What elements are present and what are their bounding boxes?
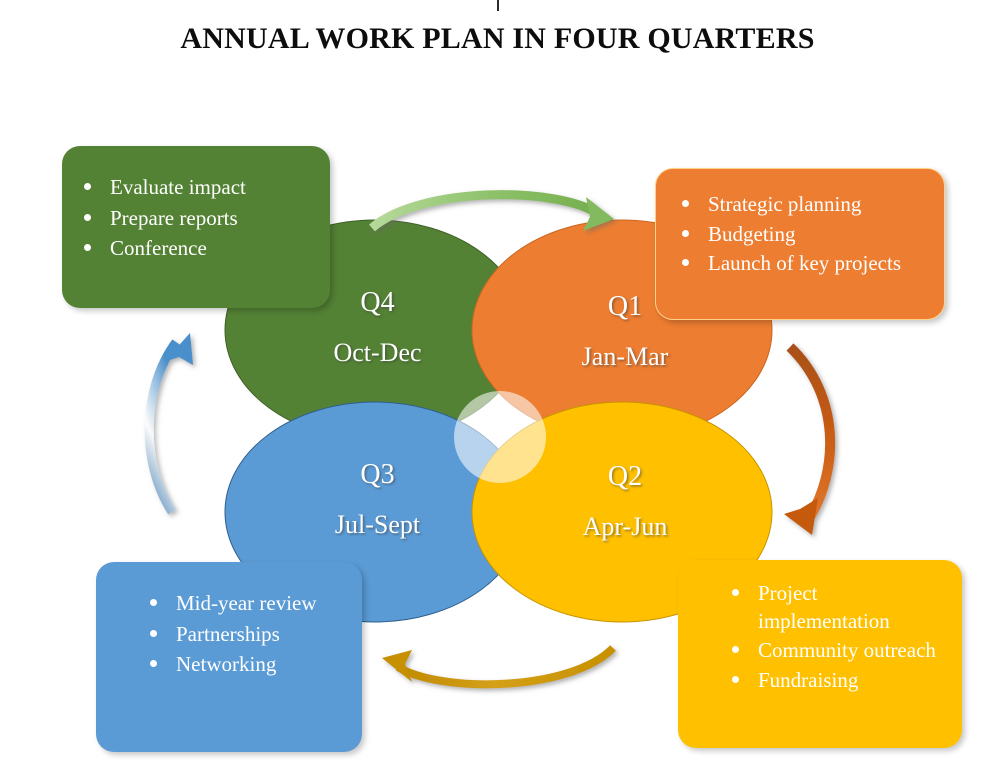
list-item: Fundraising	[724, 667, 948, 695]
list-item-text: Prepare reports	[110, 206, 238, 230]
list-item-text: Networking	[176, 652, 276, 676]
bullet-icon	[84, 244, 91, 251]
bullet-icon	[682, 200, 689, 207]
list-item: Project implementation	[724, 580, 948, 635]
bullet-icon	[682, 259, 689, 266]
callout-q2-list: Project implementation Community outreac…	[724, 580, 948, 695]
list-item: Conference	[76, 235, 314, 263]
list-item-text: Launch of key projects	[708, 251, 901, 275]
callout-q3-list: Mid-year review Partnerships Networking	[142, 590, 348, 679]
callout-q2[interactable]: Project implementation Community outreac…	[678, 560, 962, 748]
list-item-text: Strategic planning	[708, 192, 861, 216]
bullet-icon	[732, 676, 739, 683]
list-item: Budgeting	[674, 221, 928, 249]
list-item-text: Budgeting	[708, 222, 796, 246]
arrow-right-q1-to-q2	[784, 347, 830, 535]
list-item-text: Fundraising	[758, 668, 858, 692]
bullet-icon	[732, 646, 739, 653]
list-item-text: Partnerships	[176, 622, 280, 646]
list-item: Partnerships	[142, 621, 348, 649]
bullet-icon	[84, 183, 91, 190]
callout-q4-list: Evaluate impact Prepare reports Conferen…	[76, 174, 314, 263]
list-item: Strategic planning	[674, 191, 928, 219]
callout-q1[interactable]: Strategic planning Budgeting Launch of k…	[655, 168, 945, 320]
bullet-icon	[732, 589, 739, 596]
bullet-icon	[150, 599, 157, 606]
list-item: Prepare reports	[76, 205, 314, 233]
list-item-text: Project implementation	[758, 581, 890, 633]
arrow-left-q3-to-q4	[149, 333, 193, 512]
callout-q1-list: Strategic planning Budgeting Launch of k…	[674, 191, 928, 278]
list-item-text: Mid-year review	[176, 591, 317, 615]
callout-q4[interactable]: Evaluate impact Prepare reports Conferen…	[62, 146, 330, 308]
list-item: Launch of key projects	[674, 250, 928, 278]
bullet-icon	[84, 214, 91, 221]
center-highlight-circle	[454, 391, 546, 483]
list-item-text: Community outreach	[758, 638, 936, 662]
bullet-icon	[150, 660, 157, 667]
list-item: Community outreach	[724, 637, 948, 665]
bullet-icon	[150, 630, 157, 637]
list-item-text: Conference	[110, 236, 207, 260]
slide-canvas: ANNUAL WORK PLAN IN FOUR QUARTERS	[0, 0, 995, 781]
list-item-text: Evaluate impact	[110, 175, 246, 199]
arrow-bottom-q2-to-q3	[382, 648, 613, 684]
list-item: Mid-year review	[142, 590, 348, 618]
list-item: Networking	[142, 651, 348, 679]
callout-q3[interactable]: Mid-year review Partnerships Networking	[96, 562, 362, 752]
bullet-icon	[682, 230, 689, 237]
list-item: Evaluate impact	[76, 174, 314, 202]
